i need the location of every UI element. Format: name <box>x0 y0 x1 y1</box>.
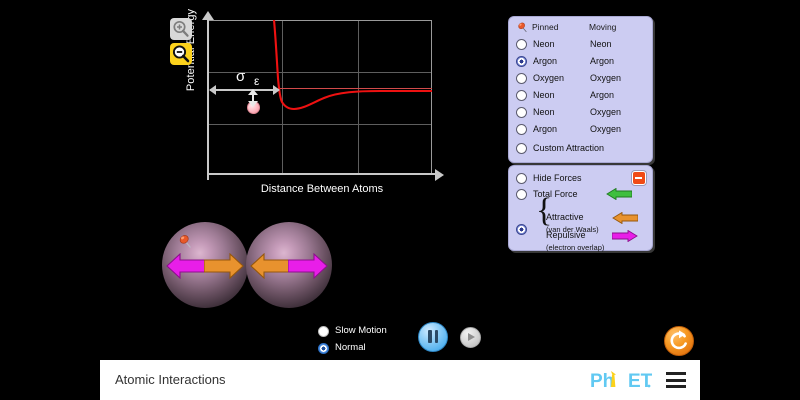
pause-icon <box>435 330 439 343</box>
option-moving-label: Neon <box>590 37 612 52</box>
zoom-in-button[interactable] <box>170 18 192 40</box>
phet-logo[interactable]: Ph ET <box>590 369 652 391</box>
simulation-screen: Potential Energy Distance Between Atoms … <box>0 0 800 400</box>
navigation-bar: Atomic Interactions Ph ET <box>100 360 700 400</box>
column-header-moving: Moving <box>589 22 616 32</box>
repulsive-force-arrow <box>288 253 328 279</box>
atom-interaction-area <box>162 216 357 316</box>
option-pinned-label: Oxygen <box>533 71 564 86</box>
phet-logo-text-et: ET <box>628 371 652 391</box>
potential-energy-curve <box>208 20 432 174</box>
hamburger-menu-icon <box>666 372 686 375</box>
total-force-arrow-icon <box>606 188 632 200</box>
normal-label: Normal <box>335 341 366 355</box>
attractive-force-arrow <box>250 253 290 279</box>
option-pinned-label: Neon <box>533 37 555 52</box>
phet-logo-text-ph: Ph <box>590 371 614 391</box>
option-moving-label: Argon <box>590 54 614 69</box>
sigma-measure-arrow <box>210 89 279 91</box>
potential-energy-graph: Potential Energy Distance Between Atoms … <box>170 16 460 206</box>
option-moving-label: Oxygen <box>590 122 621 137</box>
slow-motion-label: Slow Motion <box>335 324 387 338</box>
pause-button[interactable] <box>418 322 448 352</box>
collapse-panel-button[interactable] <box>632 171 646 185</box>
pinned-atom-force-arrows <box>166 253 244 279</box>
option-moving-label: Oxygen <box>590 71 621 86</box>
atom-pair-selection-panel: Pinned Moving Neon Neon Argon Argon Oxyg… <box>508 16 653 163</box>
option-pinned-label: Neon <box>533 88 555 103</box>
attractive-label: Attractive <box>546 210 599 225</box>
option-moving-label: Argon <box>590 88 614 103</box>
reset-all-icon <box>665 327 693 355</box>
option-pinned-label: Argon <box>533 122 557 137</box>
radio-button[interactable] <box>516 90 527 101</box>
minus-icon <box>635 177 642 179</box>
forces-control-panel: Hide Forces Total Force { Attractive (va… <box>508 165 653 251</box>
column-header-pinned: Pinned <box>532 22 558 32</box>
radio-button-selected[interactable] <box>516 224 527 235</box>
magnifier-plus-icon <box>170 18 192 40</box>
sim-name-label: Atomic Interactions <box>115 372 226 387</box>
zoom-out-button[interactable] <box>170 43 192 65</box>
attractive-force-arrow <box>204 253 244 279</box>
option-pinned-label: Neon <box>533 105 555 120</box>
y-axis-arrowhead <box>202 11 214 20</box>
magnifier-minus-icon <box>170 43 192 65</box>
radio-button[interactable] <box>516 143 527 154</box>
hide-forces-label: Hide Forces <box>533 171 582 186</box>
repulsive-force-row[interactable]: Repulsive (electron overlap) <box>546 228 604 253</box>
reset-all-button[interactable] <box>664 326 694 356</box>
repulsive-label: Repulsive <box>546 228 604 243</box>
radio-button[interactable] <box>516 73 527 84</box>
option-moving-label: Oxygen <box>590 105 621 120</box>
repulsive-sublabel: (electron overlap) <box>546 243 604 253</box>
epsilon-label: ε <box>254 74 259 88</box>
radio-button[interactable] <box>516 107 527 118</box>
x-axis-label: Distance Between Atoms <box>208 183 436 195</box>
pushpin-icon <box>178 233 194 249</box>
moving-atom-force-arrows <box>250 253 328 279</box>
step-forward-button[interactable] <box>460 327 481 348</box>
pause-icon <box>428 330 432 343</box>
x-axis-arrowhead <box>435 169 444 181</box>
radio-button-selected[interactable] <box>318 343 329 354</box>
epsilon-measure-arrow <box>252 90 254 106</box>
radio-button-selected[interactable] <box>516 56 527 67</box>
radio-button[interactable] <box>318 326 329 337</box>
hamburger-menu-icon <box>666 385 686 388</box>
time-controls: Slow Motion Normal <box>318 322 498 360</box>
step-forward-icon <box>468 333 475 341</box>
attractive-force-arrow-icon <box>612 212 638 224</box>
option-pinned-label: Custom Attraction <box>533 141 604 156</box>
hamburger-menu-icon <box>666 379 686 382</box>
repulsive-force-arrow-icon <box>612 230 638 242</box>
radio-button[interactable] <box>516 39 527 50</box>
hamburger-menu-button[interactable] <box>666 372 686 388</box>
radio-button[interactable] <box>516 189 527 200</box>
pushpin-icon <box>517 21 529 33</box>
repulsive-force-arrow <box>166 253 206 279</box>
radio-button[interactable] <box>516 124 527 135</box>
sigma-label: σ <box>236 68 245 85</box>
option-pinned-label: Argon <box>533 54 557 69</box>
radio-button[interactable] <box>516 173 527 184</box>
